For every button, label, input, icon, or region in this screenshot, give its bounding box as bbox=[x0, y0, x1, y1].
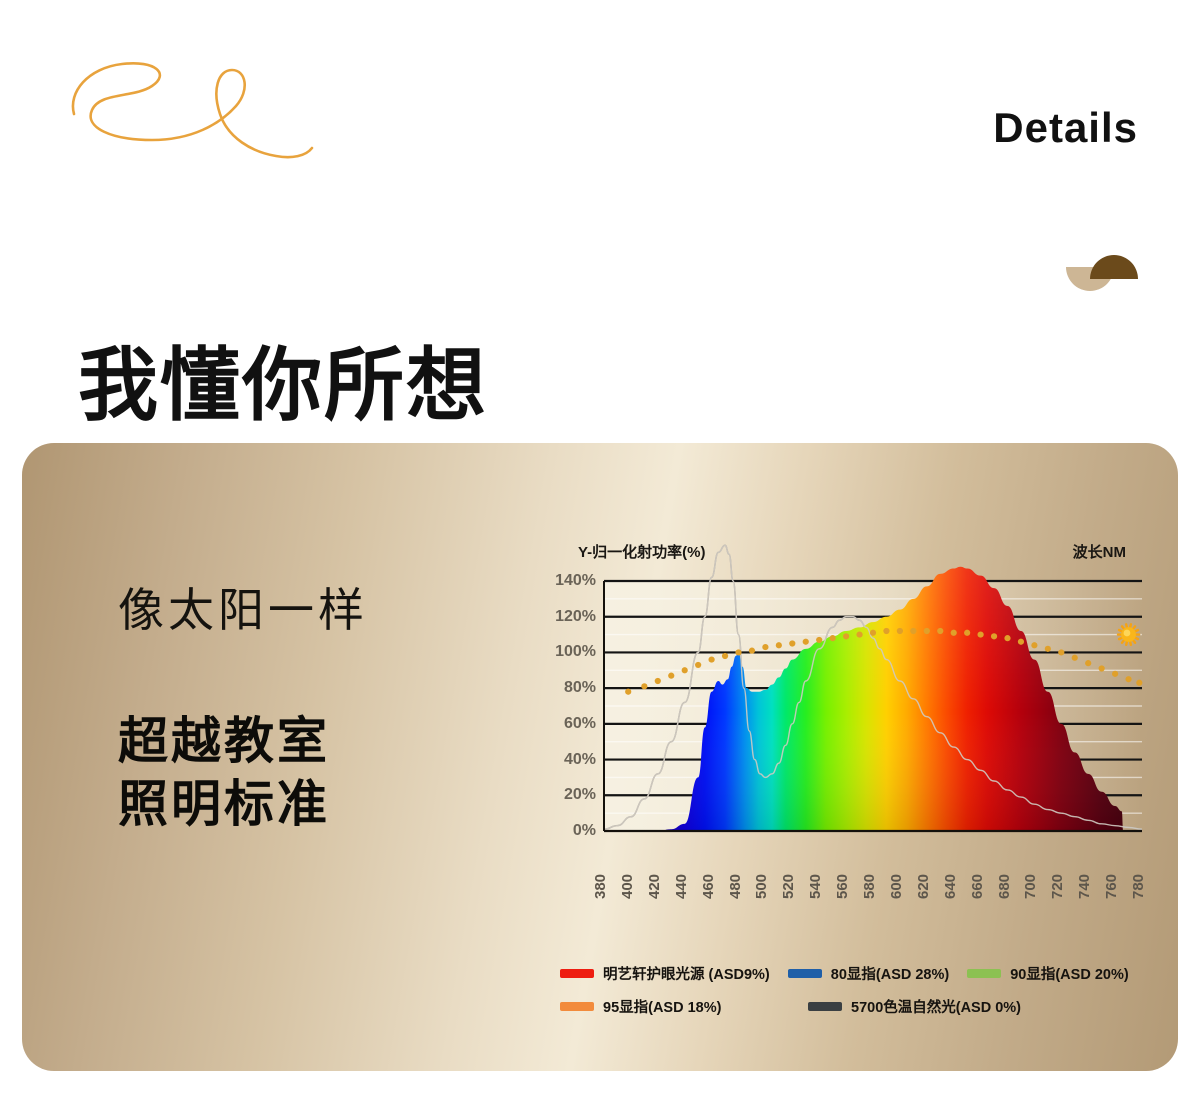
details-heading: Details bbox=[993, 104, 1138, 152]
trend-dot bbox=[1099, 665, 1105, 671]
trend-dot bbox=[668, 673, 674, 679]
trend-dot bbox=[1085, 660, 1091, 666]
legend-label: 5700色温自然光(ASD 0%) bbox=[851, 996, 1021, 1017]
legend-swatch-icon bbox=[560, 1002, 594, 1011]
x-tick-label: 580 bbox=[861, 874, 878, 899]
x-tick-label: 440 bbox=[673, 874, 690, 899]
x-tick-label: 460 bbox=[700, 874, 717, 899]
trend-dot bbox=[762, 644, 768, 650]
x-tick-label: 720 bbox=[1049, 874, 1066, 899]
y-tick-label: 100% bbox=[555, 643, 596, 661]
trend-dot bbox=[749, 648, 755, 654]
trend-dot bbox=[1136, 680, 1142, 686]
y-tick-label: 140% bbox=[555, 572, 596, 590]
y-axis-title: Y-归一化射功率(%) bbox=[578, 541, 706, 562]
trend-dot bbox=[964, 630, 970, 636]
x-tick-label: 420 bbox=[646, 874, 663, 899]
trend-dot bbox=[924, 628, 930, 634]
trend-dot bbox=[897, 628, 903, 634]
x-tick-label: 680 bbox=[996, 874, 1013, 899]
trend-dot bbox=[682, 667, 688, 673]
trend-dot bbox=[1125, 676, 1131, 682]
y-tick-label: 40% bbox=[564, 751, 596, 769]
x-tick-label: 540 bbox=[807, 874, 824, 899]
x-axis-tick-labels: 3804004204404604805005205405605806006206… bbox=[604, 835, 1142, 899]
x-tick-label: 600 bbox=[888, 874, 905, 899]
legend-row: 95显指(ASD 18%)5700色温自然光(ASD 0%) bbox=[560, 996, 1160, 1017]
legend-row: 明艺轩护眼光源 (ASD9%)80显指(ASD 28%)90显指(ASD 20%… bbox=[560, 963, 1160, 984]
trend-dot bbox=[1072, 655, 1078, 661]
trend-dot bbox=[1045, 646, 1051, 652]
legend-item[interactable]: 明艺轩护眼光源 (ASD9%) bbox=[560, 963, 770, 984]
plot-svg bbox=[604, 581, 1142, 831]
trend-dot bbox=[1004, 635, 1010, 641]
y-tick-label: 120% bbox=[555, 608, 596, 626]
trend-dot bbox=[910, 628, 916, 634]
chart-legend: 明艺轩护眼光源 (ASD9%)80显指(ASD 28%)90显指(ASD 20%… bbox=[560, 963, 1160, 1029]
card-text-panel: 像太阳一样 超越教室 照明标准 bbox=[118, 583, 518, 836]
legend-item[interactable]: 95显指(ASD 18%) bbox=[560, 996, 790, 1017]
trend-dot bbox=[789, 640, 795, 646]
panel-heading-light: 像太阳一样 bbox=[118, 583, 518, 638]
x-tick-label: 700 bbox=[1022, 874, 1039, 899]
trend-dot bbox=[937, 628, 943, 634]
page-title-line-1: 我懂你所想 bbox=[78, 332, 898, 439]
x-tick-label: 400 bbox=[619, 874, 636, 899]
trend-dot bbox=[803, 639, 809, 645]
trend-dot bbox=[951, 630, 957, 636]
x-tick-label: 760 bbox=[1103, 874, 1120, 899]
trend-dot bbox=[843, 633, 849, 639]
panel-heading-bold-line-2: 照明标准 bbox=[118, 773, 518, 836]
trend-dot bbox=[625, 689, 631, 695]
y-tick-label: 60% bbox=[564, 715, 596, 733]
page-root: 我懂你所想 每一处都是高配。 Details 像太阳一样 超越教室 照明标准 Y… bbox=[0, 0, 1200, 1094]
x-tick-label: 500 bbox=[753, 874, 770, 899]
y-tick-label: 0% bbox=[573, 822, 596, 840]
plot-wrapper: 140%120%100%80%60%40%20%0% 3804004204404… bbox=[542, 581, 1162, 881]
legend-swatch-icon bbox=[788, 969, 822, 978]
trend-dot bbox=[830, 635, 836, 641]
legend-swatch-icon bbox=[967, 969, 1001, 978]
x-tick-label: 620 bbox=[915, 874, 932, 899]
x-tick-label: 560 bbox=[834, 874, 851, 899]
legend-item[interactable]: 5700色温自然光(ASD 0%) bbox=[808, 996, 1021, 1017]
spectrum-chart: Y-归一化射功率(%) 波长NM 140%120%100%80%60%40%20… bbox=[542, 533, 1162, 1053]
trend-dot bbox=[641, 683, 647, 689]
x-tick-label: 520 bbox=[780, 874, 797, 899]
x-tick-label: 480 bbox=[727, 874, 744, 899]
trend-dot bbox=[1058, 649, 1064, 655]
x-tick-label: 780 bbox=[1130, 874, 1147, 899]
y-tick-label: 20% bbox=[564, 786, 596, 804]
half-circle-dark-icon bbox=[1090, 255, 1138, 279]
trend-dot bbox=[709, 656, 715, 662]
legend-swatch-icon bbox=[560, 969, 594, 978]
x-tick-label: 380 bbox=[592, 874, 609, 899]
feature-card: 像太阳一样 超越教室 照明标准 Y-归一化射功率(%) 波长NM 140%120… bbox=[22, 443, 1178, 1071]
x-axis-title: 波长NM bbox=[1073, 541, 1126, 562]
y-tick-label: 80% bbox=[564, 679, 596, 697]
trend-dot bbox=[870, 630, 876, 636]
legend-label: 95显指(ASD 18%) bbox=[603, 996, 721, 1017]
two-half-circles-decoration bbox=[1066, 255, 1138, 303]
trend-dot bbox=[978, 631, 984, 637]
trend-dot bbox=[1018, 639, 1024, 645]
trend-dot bbox=[1031, 642, 1037, 648]
trend-dot bbox=[695, 662, 701, 668]
legend-item[interactable]: 80显指(ASD 28%) bbox=[788, 963, 949, 984]
legend-label: 80显指(ASD 28%) bbox=[831, 963, 949, 984]
legend-label: 明艺轩护眼光源 (ASD9%) bbox=[603, 963, 770, 984]
plot-area bbox=[604, 581, 1142, 831]
trend-dot bbox=[991, 633, 997, 639]
trend-dot bbox=[1112, 671, 1118, 677]
panel-heading-bold: 超越教室 照明标准 bbox=[118, 710, 518, 836]
trend-dot bbox=[655, 678, 661, 684]
panel-heading-bold-line-1: 超越教室 bbox=[118, 710, 518, 773]
legend-swatch-icon bbox=[808, 1002, 842, 1011]
x-tick-label: 640 bbox=[942, 874, 959, 899]
trend-dot bbox=[735, 649, 741, 655]
legend-item[interactable]: 90显指(ASD 20%) bbox=[967, 963, 1128, 984]
y-axis-tick-labels: 140%120%100%80%60%40%20%0% bbox=[542, 581, 602, 831]
legend-label: 90显指(ASD 20%) bbox=[1010, 963, 1128, 984]
x-tick-label: 660 bbox=[969, 874, 986, 899]
trend-dot bbox=[883, 628, 889, 634]
x-tick-label: 740 bbox=[1076, 874, 1093, 899]
trend-dot bbox=[776, 642, 782, 648]
trend-dot bbox=[856, 631, 862, 637]
trend-dot bbox=[816, 637, 822, 643]
trend-dot bbox=[722, 653, 728, 659]
